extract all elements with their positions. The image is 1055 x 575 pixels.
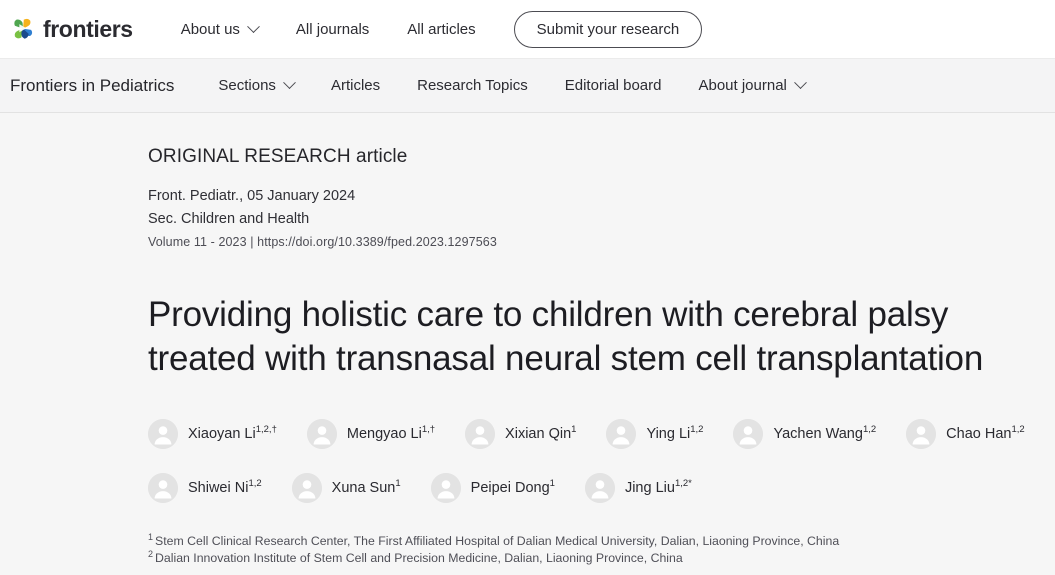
author-name: Shiwei Ni1,2 [188,480,262,496]
author-item[interactable]: Jing Liu1,2* [585,473,692,503]
chevron-down-icon [794,76,807,89]
author-name: Yachen Wang1,2 [773,426,876,442]
author-affiliation-marker: 1,2,† [256,424,277,435]
frontiers-pinwheel-logo-icon [10,16,36,42]
author-affiliation-marker: 1,2 [1011,424,1024,435]
author-item[interactable]: Xuna Sun1 [292,473,401,503]
nav-item-about-us[interactable]: About us [181,21,258,38]
author-item[interactable]: Mengyao Li1,† [307,419,435,449]
author-name: Chao Han1,2 [946,426,1025,442]
nav-item-all-journals[interactable]: All journals [296,21,369,38]
affiliation-item: 1Stem Cell Clinical Research Center, The… [148,533,1055,550]
author-item[interactable]: Xixian Qin1 [465,419,576,449]
author-affiliation-marker: 1,2 [248,478,261,489]
avatar [585,473,615,503]
journal-nav-editorial-board-label: Editorial board [565,77,662,94]
chevron-down-icon [247,20,260,33]
author-list: Xiaoyan Li1,2,†Mengyao Li1,†Xixian Qin1Y… [148,419,1055,503]
author-name: Mengyao Li1,† [347,426,435,442]
author-item[interactable]: Shiwei Ni1,2 [148,473,262,503]
affiliation-list: 1Stem Cell Clinical Research Center, The… [148,533,1055,567]
avatar [148,419,178,449]
chevron-down-icon [283,76,296,89]
author-affiliation-marker: 1,2 [690,424,703,435]
affiliation-text: Dalian Innovation Institute of Stem Cell… [155,551,683,565]
author-name: Ying Li1,2 [646,426,703,442]
author-name: Xiaoyan Li1,2,† [188,426,277,442]
journal-nav-about-journal-label: About journal [698,77,786,94]
author-item[interactable]: Yachen Wang1,2 [733,419,876,449]
author-item[interactable]: Peipei Dong1 [431,473,555,503]
author-affiliation-marker: 1,2 [863,424,876,435]
author-affiliation-marker: 1 [571,424,576,435]
author-name: Xuna Sun1 [332,480,401,496]
author-affiliation-marker: 1,† [422,424,435,435]
brand-wordmark: frontiers [43,16,133,43]
affiliation-marker: 2 [148,549,153,559]
author-item[interactable]: Xiaoyan Li1,2,† [148,419,277,449]
article-volume-doi: Volume 11 - 2023 | https://doi.org/10.33… [148,235,1055,249]
article-section: Sec. Children and Health [148,209,1055,229]
article-type-label: ORIGINAL RESEARCH article [148,146,1055,168]
avatar [465,419,495,449]
journal-nav-about-journal[interactable]: About journal [698,77,804,94]
submit-your-research-button[interactable]: Submit your research [514,11,703,48]
article-journal-date: Front. Pediatr., 05 January 2024 [148,186,1055,206]
author-affiliation-marker: 1 [550,478,555,489]
affiliation-marker: 1 [148,532,153,542]
avatar [606,419,636,449]
journal-nav-sections-label: Sections [218,77,276,94]
nav-item-all-articles-label: All articles [407,21,475,38]
author-affiliation-marker: 1 [395,478,400,489]
avatar [292,473,322,503]
author-affiliation-marker: 1,2* [675,478,692,489]
author-item[interactable]: Chao Han1,2 [906,419,1025,449]
nav-item-all-journals-label: All journals [296,21,369,38]
affiliation-item: 2Dalian Innovation Institute of Stem Cel… [148,550,1055,567]
journal-nav-sections[interactable]: Sections [218,77,294,94]
frontiers-logo-link[interactable]: frontiers [10,16,133,43]
article-header-block: ORIGINAL RESEARCH article Front. Pediatr… [0,113,1055,567]
global-header: frontiers About us All journals All arti… [0,0,1055,58]
page-title: Providing holistic care to children with… [148,293,1055,381]
journal-nav-research-topics-label: Research Topics [417,77,528,94]
author-name: Peipei Dong1 [471,480,555,496]
journal-nav-editorial-board[interactable]: Editorial board [565,77,662,94]
nav-item-all-articles[interactable]: All articles [407,21,475,38]
affiliation-text: Stem Cell Clinical Research Center, The … [155,534,839,548]
avatar [431,473,461,503]
avatar [148,473,178,503]
avatar [733,419,763,449]
author-item[interactable]: Ying Li1,2 [606,419,703,449]
journal-nav-articles[interactable]: Articles [331,77,380,94]
journal-nav-articles-label: Articles [331,77,380,94]
author-name: Xixian Qin1 [505,426,576,442]
journal-nav-research-topics[interactable]: Research Topics [417,77,528,94]
journal-title-link[interactable]: Frontiers in Pediatrics [10,76,174,96]
avatar [307,419,337,449]
author-name: Jing Liu1,2* [625,480,692,496]
nav-item-about-us-label: About us [181,21,240,38]
avatar [906,419,936,449]
journal-navigation-bar: Frontiers in Pediatrics Sections Article… [0,58,1055,113]
